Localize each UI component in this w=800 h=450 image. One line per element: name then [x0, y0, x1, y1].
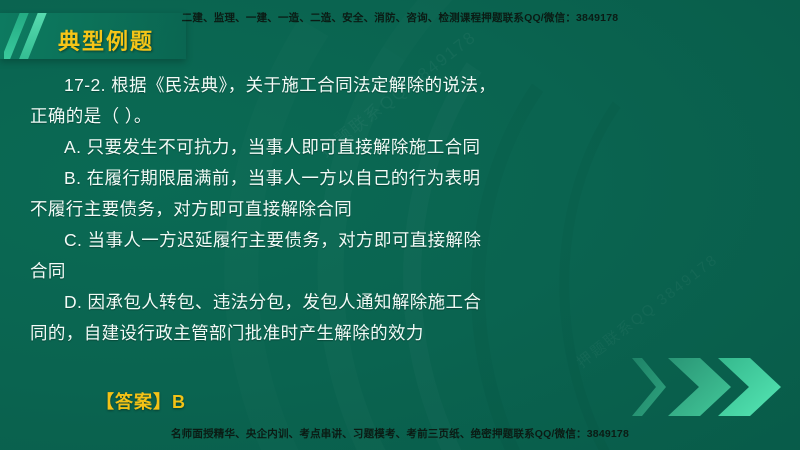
option-a-line[interactable]: A. 只要发生不可抗力，当事人即可直接解除施工合同: [30, 132, 630, 163]
question-block: 17-2. 根据《民法典》，关于施工合同法定解除的说法， 正确的是（ ）。 A.…: [30, 70, 630, 349]
double-slash-icon: [4, 13, 62, 59]
option-b-line[interactable]: 不履行主要债务，对方即可直接解除合同: [30, 194, 630, 225]
option-c-line[interactable]: 合同: [30, 256, 630, 287]
option-d-line[interactable]: 同的，自建设行政主管部门批准时产生解除的效力: [30, 318, 630, 349]
question-stem-line: 17-2. 根据《民法典》，关于施工合同法定解除的说法，: [30, 70, 630, 101]
promo-banner-bottom: 名师面授精华、央企内训、考点串讲、习题模考、考前三页纸、绝密押题联系QQ/微信：…: [0, 426, 800, 441]
option-c-line[interactable]: C. 当事人一方迟延履行主要债务，对方即可直接解除: [30, 225, 630, 256]
slide-root: 押题联系QQ 3849178 押题联系QQ 3849178 二建、监理、一建、一…: [0, 0, 800, 450]
answer-text: 【答案】B: [96, 388, 186, 414]
question-stem-line: 正确的是（ ）。: [30, 101, 630, 132]
option-b-line[interactable]: B. 在履行期限届满前，当事人一方以自己的行为表明: [30, 163, 630, 194]
page-title: 典型例题: [58, 24, 154, 56]
option-d-line[interactable]: D. 因承包人转包、违法分包，发包人通知解除施工合: [30, 287, 630, 318]
triple-chevron-right-icon: [632, 356, 782, 418]
